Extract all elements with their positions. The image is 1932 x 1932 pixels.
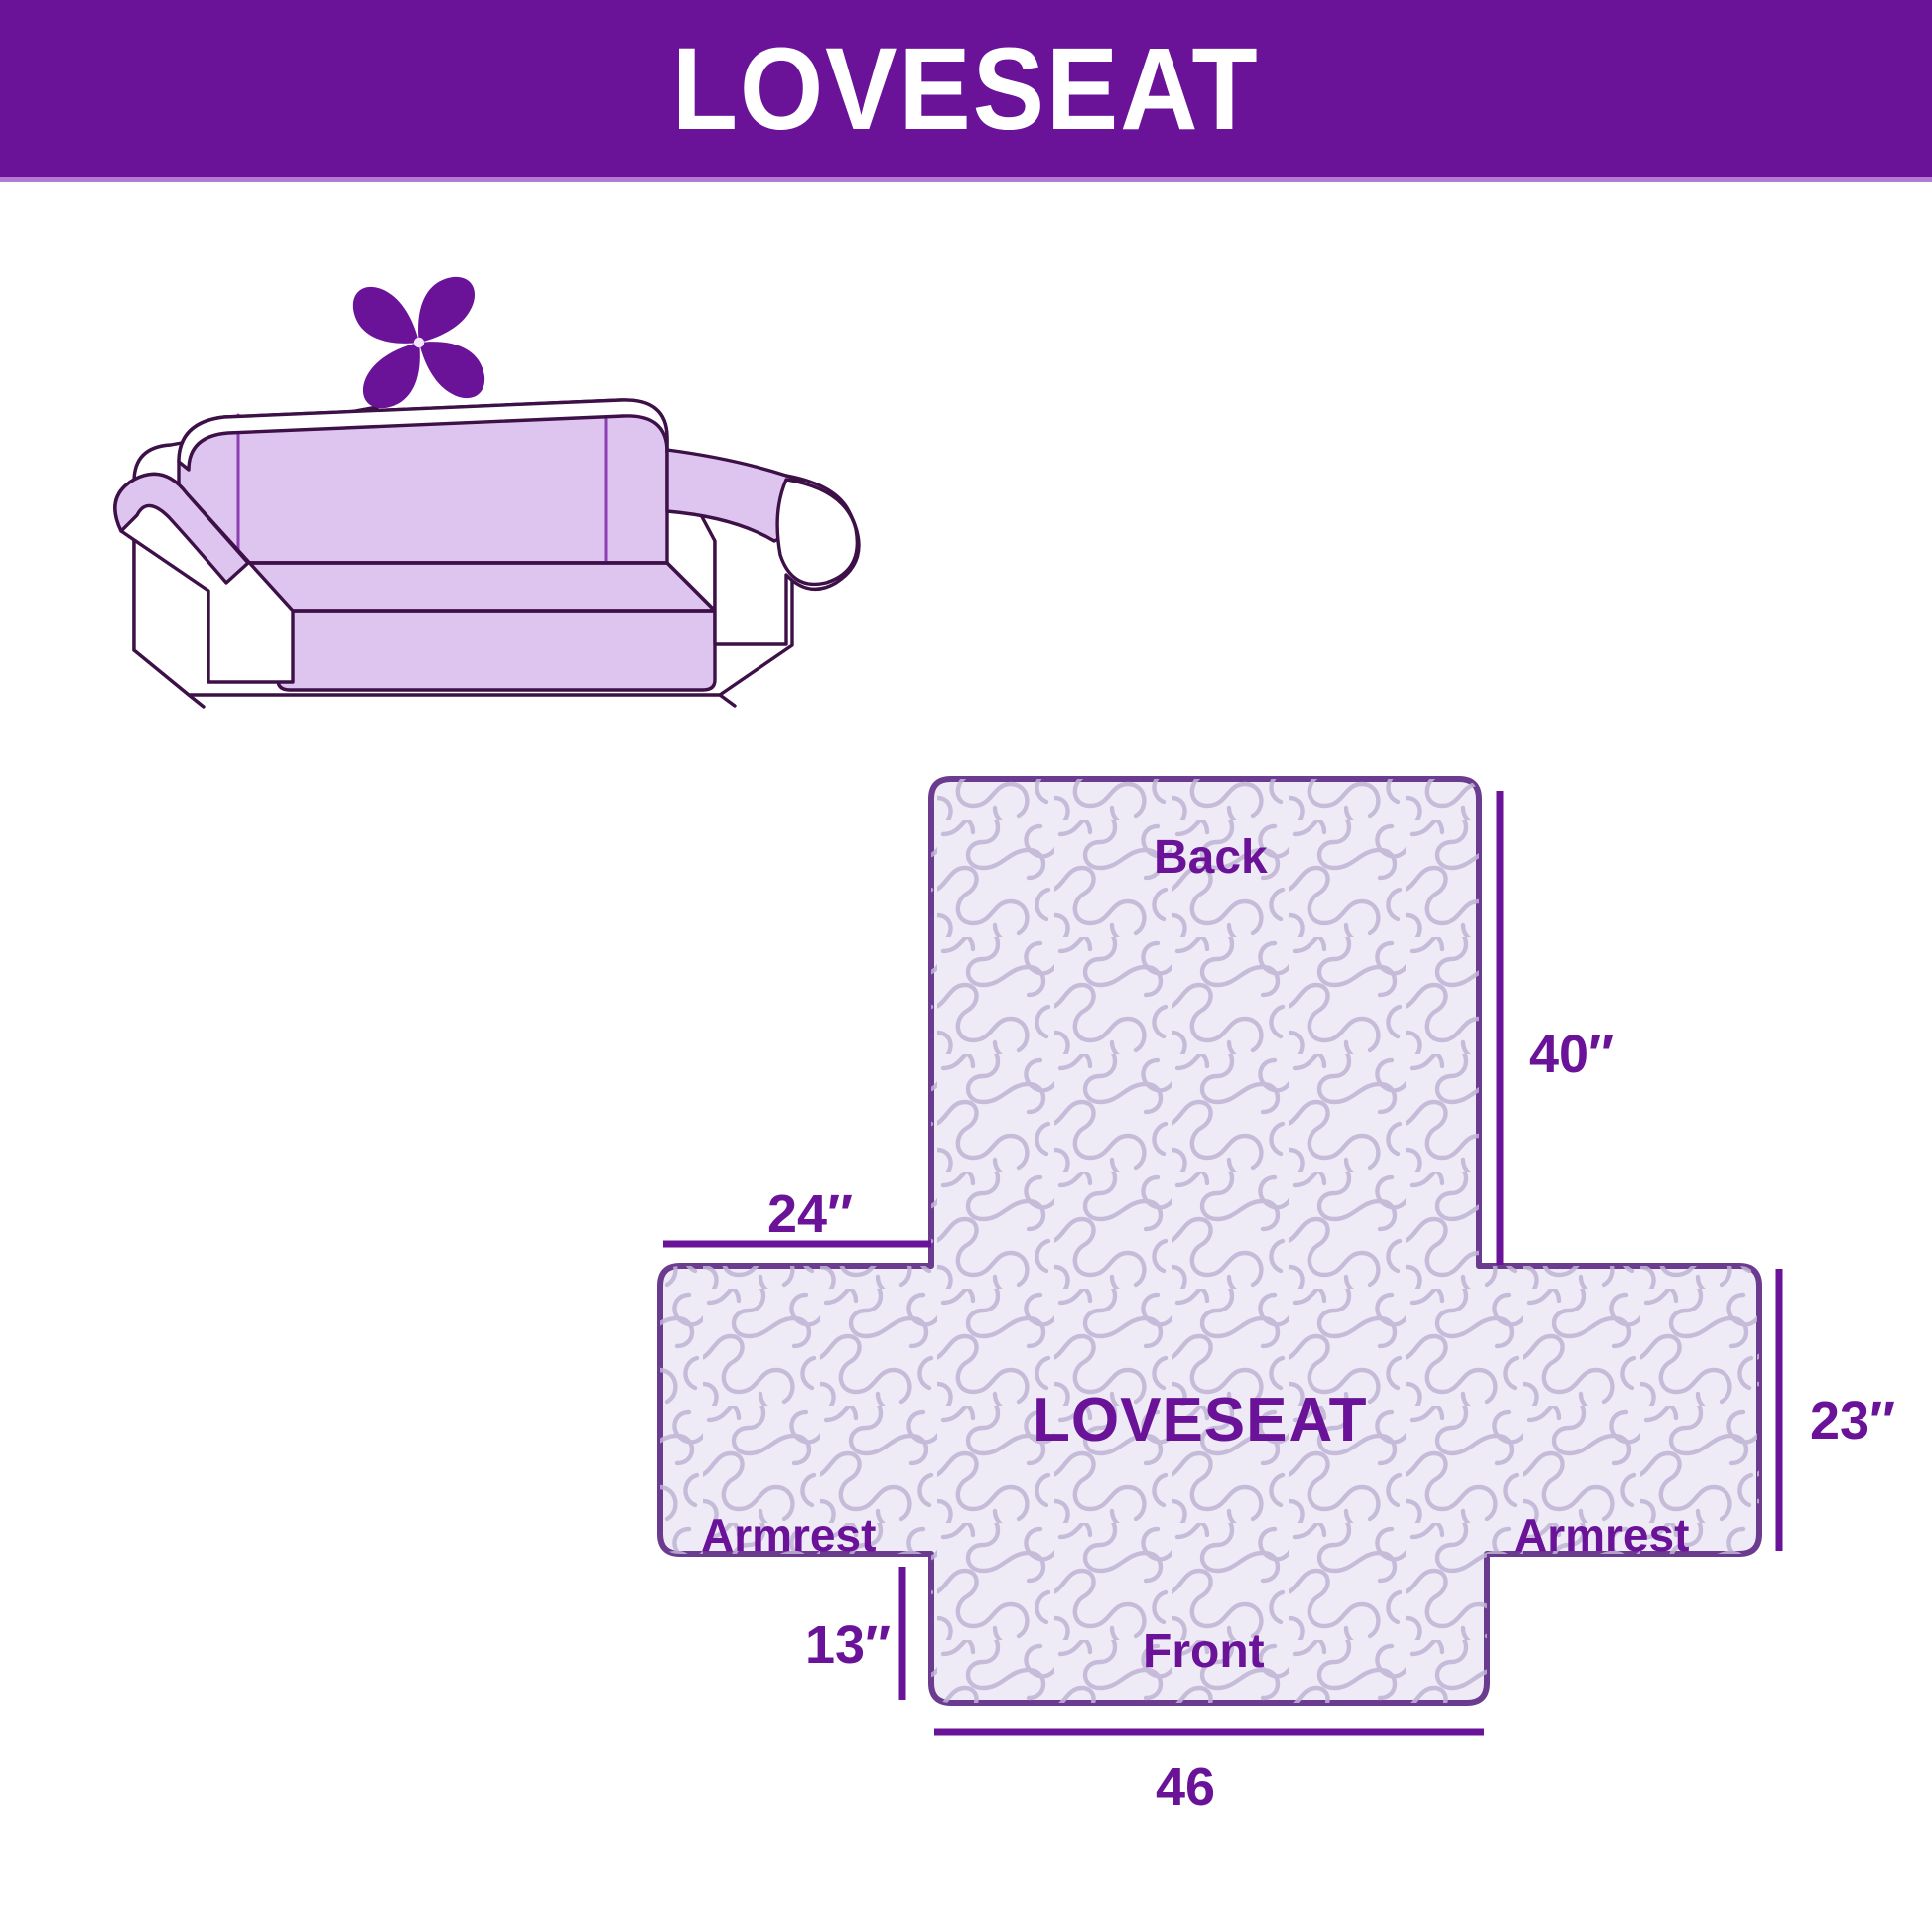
dimension-label-front-height: 13″ <box>805 1618 891 1672</box>
dimension-label-back-width: 24″ <box>767 1187 853 1241</box>
flat-layout-svg <box>0 0 1932 1932</box>
flat-layout-diagram <box>0 0 1932 1932</box>
dimension-label-armrest-height: 23″ <box>1810 1394 1895 1448</box>
panel-label-back: Back <box>1154 834 1268 882</box>
dimension-label-total-width: 46 <box>1156 1760 1215 1814</box>
page-root: LOVESEAT .ol{fill:none;stroke:#3d1047;st… <box>0 0 1932 1932</box>
dimension-label-back-height: 40″ <box>1529 1028 1614 1081</box>
panel-label-armrest-left: Armrest <box>701 1512 876 1558</box>
slipcover-cross-panel <box>596 755 1837 1747</box>
diagram-center-label: LOVESEAT <box>1033 1390 1368 1451</box>
panel-label-front: Front <box>1143 1628 1265 1676</box>
panel-label-armrest-right: Armrest <box>1514 1512 1689 1558</box>
